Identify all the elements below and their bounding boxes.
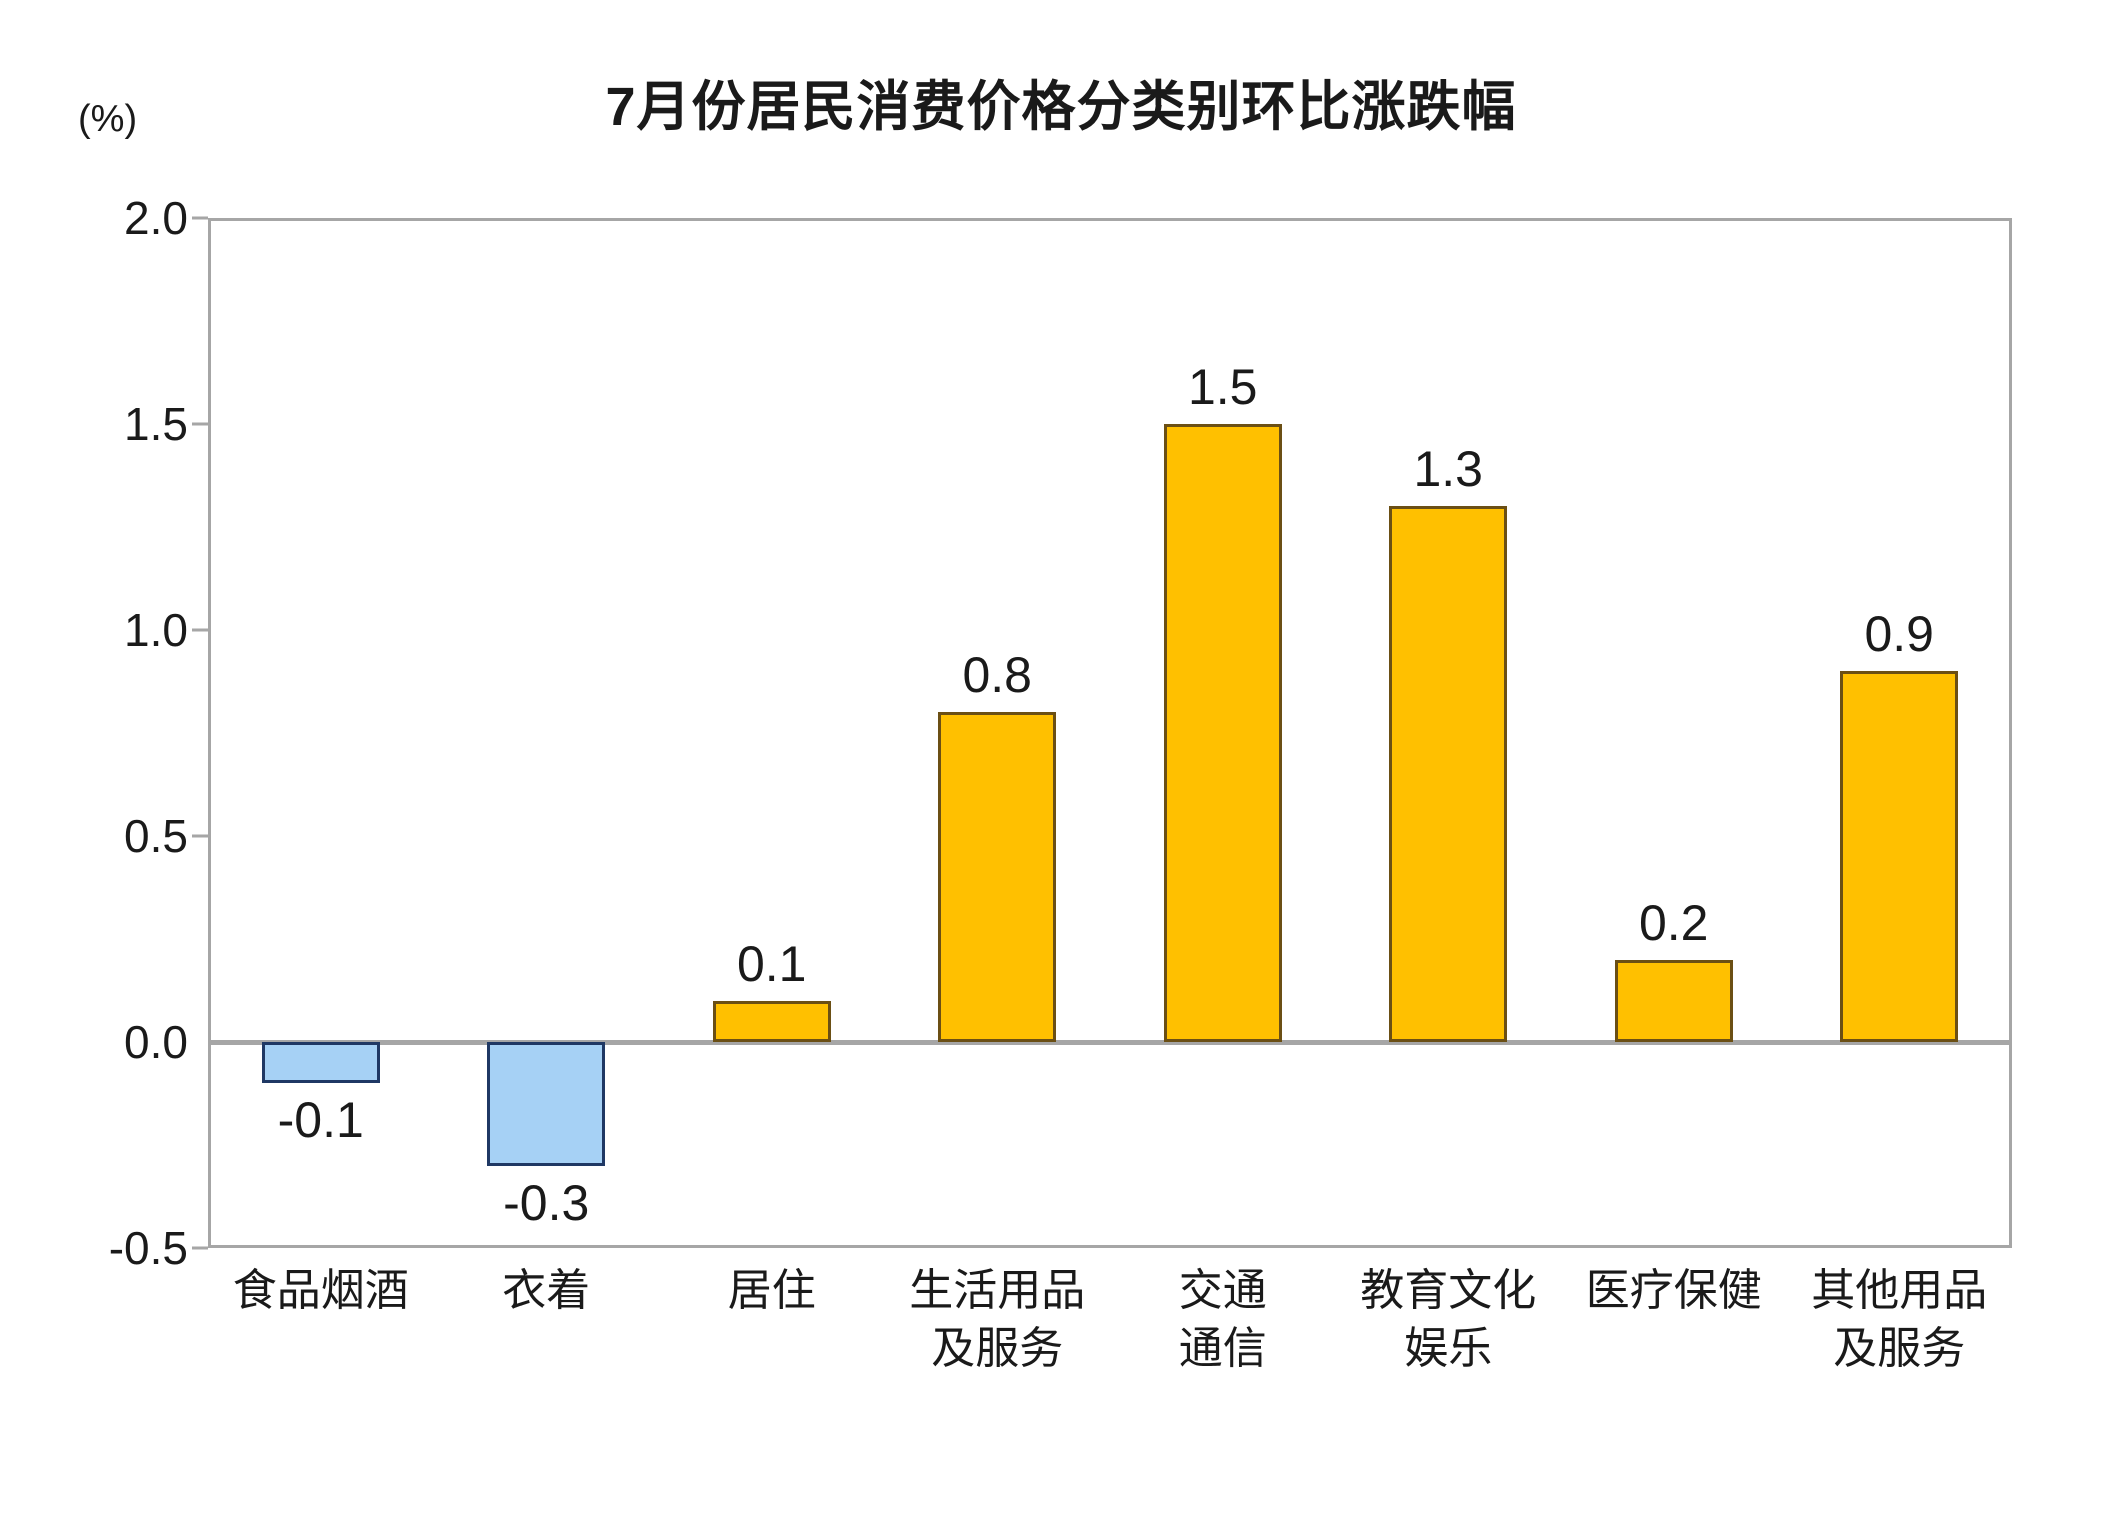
x-axis-category-label-line: 其他用品 bbox=[1749, 1262, 2049, 1320]
bar bbox=[1615, 960, 1733, 1042]
y-axis-tick-label: 2.0 bbox=[28, 191, 188, 245]
bar bbox=[713, 1001, 831, 1042]
y-axis-tick-label: 1.5 bbox=[28, 397, 188, 451]
x-axis-category-labels: 食品烟酒衣着居住生活用品及服务交通通信教育文化娱乐医疗保健其他用品及服务 bbox=[208, 1262, 2012, 1502]
x-axis-category-label-line: 及服务 bbox=[1749, 1320, 2049, 1378]
bar-value-label: 1.5 bbox=[1093, 358, 1353, 416]
chart-title: 7月份居民消费价格分类别环比涨跌幅 bbox=[0, 62, 2122, 141]
bar bbox=[487, 1042, 605, 1166]
y-axis-unit-label: (%) bbox=[78, 98, 137, 141]
bars-layer: -0.1-0.30.10.81.51.30.20.9 bbox=[208, 218, 2012, 1248]
y-axis-tick-mark bbox=[192, 629, 208, 632]
y-axis-tick-label: -0.5 bbox=[28, 1221, 188, 1275]
x-axis-category-label: 其他用品及服务 bbox=[1749, 1262, 2049, 1378]
y-axis-tick-label: 1.0 bbox=[28, 603, 188, 657]
y-axis-tick-mark bbox=[192, 835, 208, 838]
bar-value-label: 1.3 bbox=[1318, 440, 1578, 498]
bar bbox=[938, 712, 1056, 1042]
y-axis-tick-mark bbox=[192, 1247, 208, 1250]
bar bbox=[1389, 506, 1507, 1042]
bar bbox=[262, 1042, 380, 1083]
bar-value-label: 0.8 bbox=[867, 646, 1127, 704]
bar-value-label: 0.9 bbox=[1769, 605, 2029, 663]
x-axis-category-label-line: 娱乐 bbox=[1298, 1320, 1598, 1378]
bar-value-label: -0.3 bbox=[416, 1174, 676, 1232]
bar-value-label: 0.1 bbox=[642, 935, 902, 993]
bar bbox=[1164, 424, 1282, 1042]
bar bbox=[1840, 671, 1958, 1042]
y-axis-tick-label: 0.5 bbox=[28, 809, 188, 863]
y-axis-tick-label: 0.0 bbox=[28, 1015, 188, 1069]
y-axis-tick-mark bbox=[192, 423, 208, 426]
bar-value-label: -0.1 bbox=[191, 1091, 451, 1149]
y-axis-tick-mark bbox=[192, 217, 208, 220]
bar-value-label: 0.2 bbox=[1544, 894, 1804, 952]
chart-root: 7月份居民消费价格分类别环比涨跌幅 (%) 2.01.51.00.50.0-0.… bbox=[0, 0, 2122, 1514]
